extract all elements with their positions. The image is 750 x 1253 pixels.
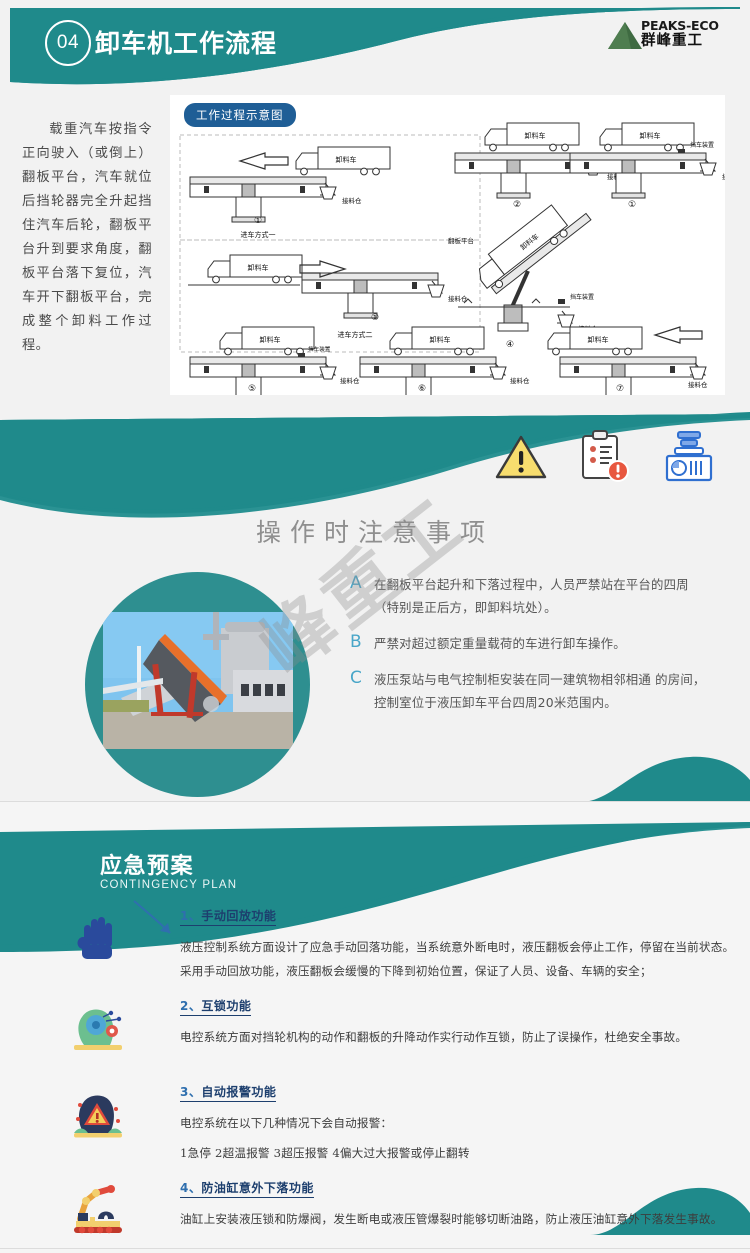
contingency-body: 电控系统方面对挡轮机构的动作和翻板的升降动作实行动作互锁，防止了误操作，杜绝安全… [180, 1025, 740, 1049]
contingency-heading: 3、自动报警功能 [180, 1083, 276, 1102]
unloader-photo-circle [85, 572, 310, 797]
contingency-item: 3、自动报警功能 电控系统在以下几种情况下会自动报警： 1急停 2超温报警 3超… [60, 1083, 740, 1165]
svg-text:接料仓: 接料仓 [342, 196, 362, 205]
page-bottom-divider [0, 1248, 750, 1249]
svg-text:⑤: ⑤ [248, 383, 256, 393]
svg-text:挡车装置: 挡车装置 [308, 345, 331, 353]
contingency-heading-text: 防油缸意外下落功能 [201, 1181, 314, 1195]
note-key: B [350, 632, 374, 655]
robot-arm-icon [70, 1179, 126, 1235]
control-cabinet-icon [661, 430, 717, 484]
gear-head-icon [70, 997, 126, 1053]
svg-text:卸料车: 卸料车 [336, 155, 357, 164]
svg-text:卸料车: 卸料车 [248, 263, 269, 272]
svg-text:卸料车: 卸料车 [640, 131, 661, 140]
contingency-body: 油缸上安装液压锁和防爆阀，发生断电或液压管爆裂时能够切断油路，防止液压油缸意外下… [180, 1207, 740, 1231]
svg-text:进车方式一: 进车方式一 [241, 230, 276, 239]
svg-text:①: ① [628, 199, 636, 209]
logo-text-cn: 群峰重工 [641, 34, 719, 49]
svg-text:⑥: ⑥ [418, 383, 426, 393]
note-text: 液压泵站与电气控制柜安装在同一建筑物相邻相通 的房间，控制室位于液压卸车平台四周… [374, 668, 710, 714]
contingency-number: 2、 [180, 999, 201, 1013]
svg-text:①: ① [371, 312, 379, 322]
contingency-heading: 2、互锁功能 [180, 997, 251, 1016]
contingency-heading: 1、手动回放功能 [180, 907, 276, 926]
unloader-photo [103, 612, 293, 749]
svg-text:①: ① [254, 215, 262, 225]
slide-page: 04 卸车机工作流程 PEAKS-ECO 群峰重工 载重汽车按指令正向驶入（或倒… [0, 0, 750, 1253]
svg-text:接料仓: 接料仓 [340, 376, 360, 385]
contingency-number: 3、 [180, 1085, 201, 1099]
svg-text:卸料车: 卸料车 [260, 335, 281, 344]
note-item: A 在翻板平台起升和下落过程中，人员严禁站在平台的四周（特别是正后方，即卸料坑处… [350, 573, 710, 619]
contingency-heading-text: 自动报警功能 [201, 1085, 276, 1099]
process-diagram: 卸料车 接料仓 ① 进车方式一 卸料车 接料仓 [170, 95, 725, 395]
section-workflow: 04 卸车机工作流程 PEAKS-ECO 群峰重工 载重汽车按指令正向驶入（或倒… [0, 0, 750, 408]
section-number-badge: 04 [45, 20, 91, 66]
note-text: 严禁对超过额定重量载荷的车进行卸车操作。 [374, 632, 626, 655]
contingency-item: 1、手动回放功能 液压控制系统方面设计了应急手动回落功能，当系统意外断电时，液压… [60, 907, 740, 983]
note-key: A [350, 573, 374, 619]
clipboard-alert-icon [577, 430, 633, 484]
contingency-body-alt: 1急停 2超温报警 3超压报警 4偏大过大报警或停止翻转 [180, 1141, 740, 1165]
mountain-icon [605, 16, 645, 52]
svg-text:④: ④ [506, 339, 514, 349]
contingency-heading: 4、防油缸意外下落功能 [180, 1179, 314, 1198]
contingency-subtitle: CONTINGENCY PLAN [100, 879, 237, 891]
contingency-heading-text: 互锁功能 [201, 999, 251, 1013]
notes-icon-row [493, 426, 723, 488]
svg-text:挡车装置: 挡车装置 [570, 293, 594, 301]
section-number: 04 [57, 32, 79, 54]
company-logo: PEAKS-ECO 群峰重工 [605, 12, 730, 56]
svg-text:翻板平台: 翻板平台 [448, 236, 474, 245]
workflow-paragraph: 载重汽车按指令正向驶入（或倒上）翻板平台，汽车就位后挡轮器完全升起挡住汽车后轮，… [22, 118, 152, 358]
logo-text-en: PEAKS-ECO [641, 20, 719, 33]
process-diagram-panel: 工作过程示意图 [170, 95, 725, 395]
contingency-items: 1、手动回放功能 液压控制系统方面设计了应急手动回落功能，当系统意外断电时，液压… [60, 907, 740, 1253]
svg-text:接料仓: 接料仓 [510, 376, 530, 385]
contingency-title: 应急预案 [100, 848, 194, 880]
page-title: 卸车机工作流程 [95, 24, 277, 60]
notes-bottom-bump [580, 752, 750, 802]
svg-text:卸料车: 卸料车 [430, 335, 451, 344]
workflow-paragraph-text: 载重汽车按指令正向驶入（或倒上）翻板平台，汽车就位后挡轮器完全升起挡住汽车后轮，… [22, 122, 152, 353]
note-item: C 液压泵站与电气控制柜安装在同一建筑物相邻相通 的房间，控制室位于液压卸车平台… [350, 668, 710, 714]
contingency-item: 4、防油缸意外下落功能 油缸上安装液压锁和防爆阀，发生断电或液压管爆裂时能够切断… [60, 1179, 740, 1251]
contingency-item: 2、互锁功能 电控系统方面对挡轮机构的动作和翻板的升降动作实行动作互锁，防止了误… [60, 997, 740, 1069]
contingency-number: 4、 [180, 1181, 201, 1195]
note-item: B 严禁对超过额定重量载荷的车进行卸车操作。 [350, 632, 710, 655]
svg-text:挡车装置: 挡车装置 [690, 141, 714, 149]
notes-title: 操作时注意事项 [0, 513, 750, 549]
contingency-body: 电控系统在以下几种情况下会自动报警： [180, 1111, 740, 1135]
hand-pointer-icon [70, 907, 126, 963]
arrow-icon [130, 899, 190, 943]
note-text: 在翻板平台起升和下落过程中，人员严禁站在平台的四周（特别是正后方，即卸料坑处）。 [374, 573, 710, 619]
svg-text:卸料车: 卸料车 [588, 335, 609, 344]
svg-text:卸料车: 卸料车 [525, 131, 546, 140]
svg-text:⑦: ⑦ [616, 383, 624, 393]
svg-text:接料仓: 接料仓 [722, 172, 725, 181]
warning-triangle-icon [493, 431, 549, 483]
contingency-body: 液压控制系统方面设计了应急手动回落功能，当系统意外断电时，液压翻板会停止工作，停… [180, 935, 740, 983]
alarm-head-icon [70, 1083, 126, 1139]
svg-text:接料仓: 接料仓 [688, 380, 708, 389]
svg-text:进车方式二: 进车方式二 [338, 330, 373, 339]
contingency-heading-text: 手动回放功能 [201, 909, 276, 923]
section-contingency: 应急预案 CONTINGENCY PLAN 1、手动回放功能 [0, 802, 750, 1253]
notes-list: A 在翻板平台起升和下落过程中，人员严禁站在平台的四周（特别是正后方，即卸料坑处… [350, 573, 710, 727]
note-key: C [350, 668, 374, 714]
svg-text:②: ② [513, 199, 521, 209]
